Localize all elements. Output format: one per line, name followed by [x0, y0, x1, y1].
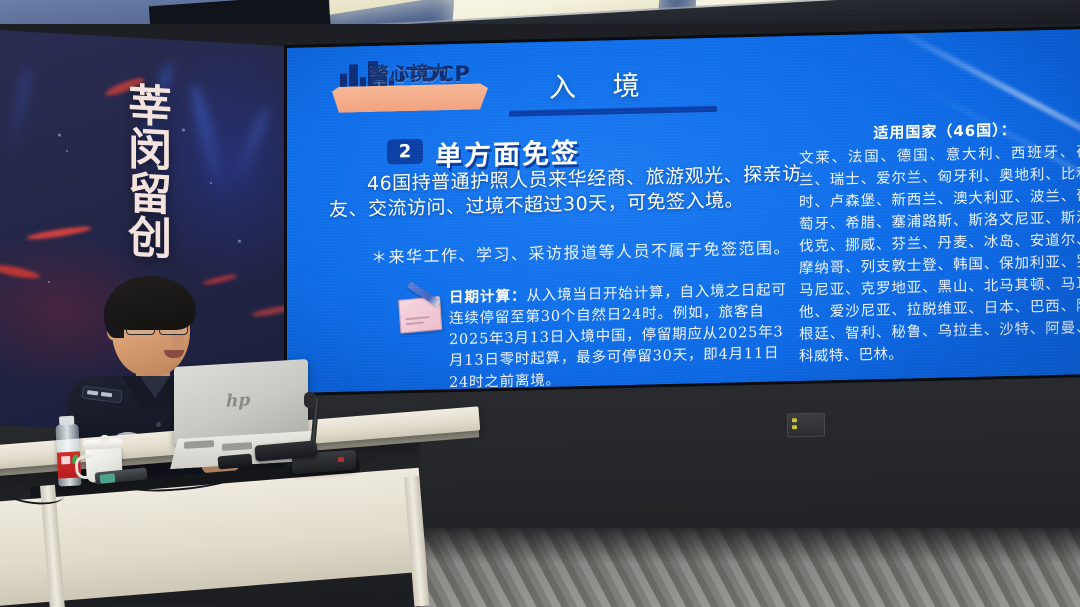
slide-page-title: 入 境 — [549, 63, 654, 104]
countries-list: 文莱、法国、德国、意大利、西班牙、荷兰、瑞士、爱尔兰、匈牙利、奥地利、比利时、卢… — [799, 144, 1080, 365]
slide-logo: iTDCP 警心境力 — [332, 57, 492, 119]
date-calculation-block: 日期计算：从入境当日开始计算，自入境之日起可连续停留至第30个自然日24时。例如… — [449, 280, 789, 393]
mug-handle — [75, 455, 93, 480]
led-wall-screen: iTDCP 警心境力 入 境 2 单方面免签 46国持普通护照人员来华经商、旅游… — [287, 29, 1080, 393]
logo-ribbon-text: 警心境力 — [332, 57, 488, 87]
memo-pen-icon — [398, 290, 443, 334]
mic-status-led — [338, 457, 344, 462]
mic-capsule — [304, 392, 316, 408]
logo-ribbon — [332, 83, 488, 113]
laptop-brand-logo: hp — [226, 390, 250, 411]
gooseneck-microphone[interactable] — [292, 400, 362, 474]
hair — [106, 276, 196, 330]
mug-lid-knob — [100, 435, 108, 441]
conference-room-photo: 莘闵留创 iTDCP 警心境力 入 境 2 单方面免签 46国持普通护照人员来华… — [0, 0, 1080, 607]
section-number-badge: 2 — [387, 139, 423, 165]
floor-shading — [420, 528, 1080, 607]
bottle-cap — [59, 416, 74, 426]
date-calculation-label: 日期计算： — [449, 288, 527, 306]
water-bottle[interactable] — [55, 423, 81, 486]
backdrop-vertical-title: 莘闵留创 — [108, 80, 170, 259]
applicable-countries-block: 适用国家（46国）：文莱、法国、德国、意大利、西班牙、荷兰、瑞士、爱尔兰、匈牙利… — [799, 117, 1080, 368]
wall-socket-panel — [787, 413, 825, 438]
usb-adapter[interactable] — [100, 473, 116, 484]
nose — [172, 334, 184, 347]
